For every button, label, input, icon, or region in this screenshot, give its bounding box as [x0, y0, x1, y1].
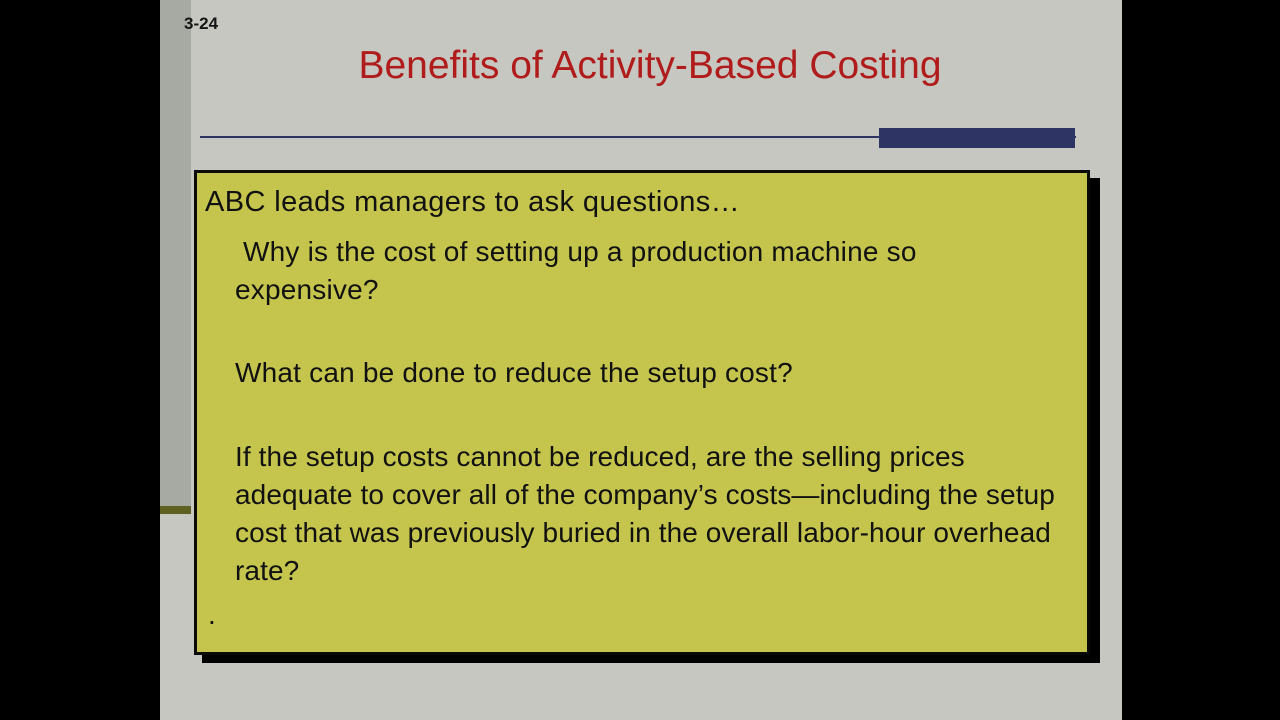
content-card: ABC leads managers to ask questions… Why… [194, 170, 1090, 655]
slide-viewport: 3-24 Benefits of Activity-Based Costing … [0, 0, 1280, 720]
letterbox-bar-right [1122, 0, 1280, 720]
left-band-accent-bar [160, 506, 191, 514]
left-decorative-band [160, 0, 191, 509]
question-item-2: What can be done to reduce the setup cos… [235, 354, 1065, 392]
question-item-3: If the setup costs cannot be reduced, ar… [235, 438, 1075, 590]
content-lead-in-text: ABC leads managers to ask questions… [205, 183, 1075, 221]
question-item-1: Why is the cost of setting up a producti… [235, 233, 1065, 309]
presentation-slide: 3-24 Benefits of Activity-Based Costing … [160, 0, 1122, 720]
trailing-period-mark: . [208, 605, 216, 625]
slide-page-number: 3-24 [184, 14, 218, 34]
letterbox-bar-left [0, 0, 160, 720]
slide-title: Benefits of Activity-Based Costing [200, 42, 1100, 90]
title-divider-accent-block [879, 128, 1075, 148]
